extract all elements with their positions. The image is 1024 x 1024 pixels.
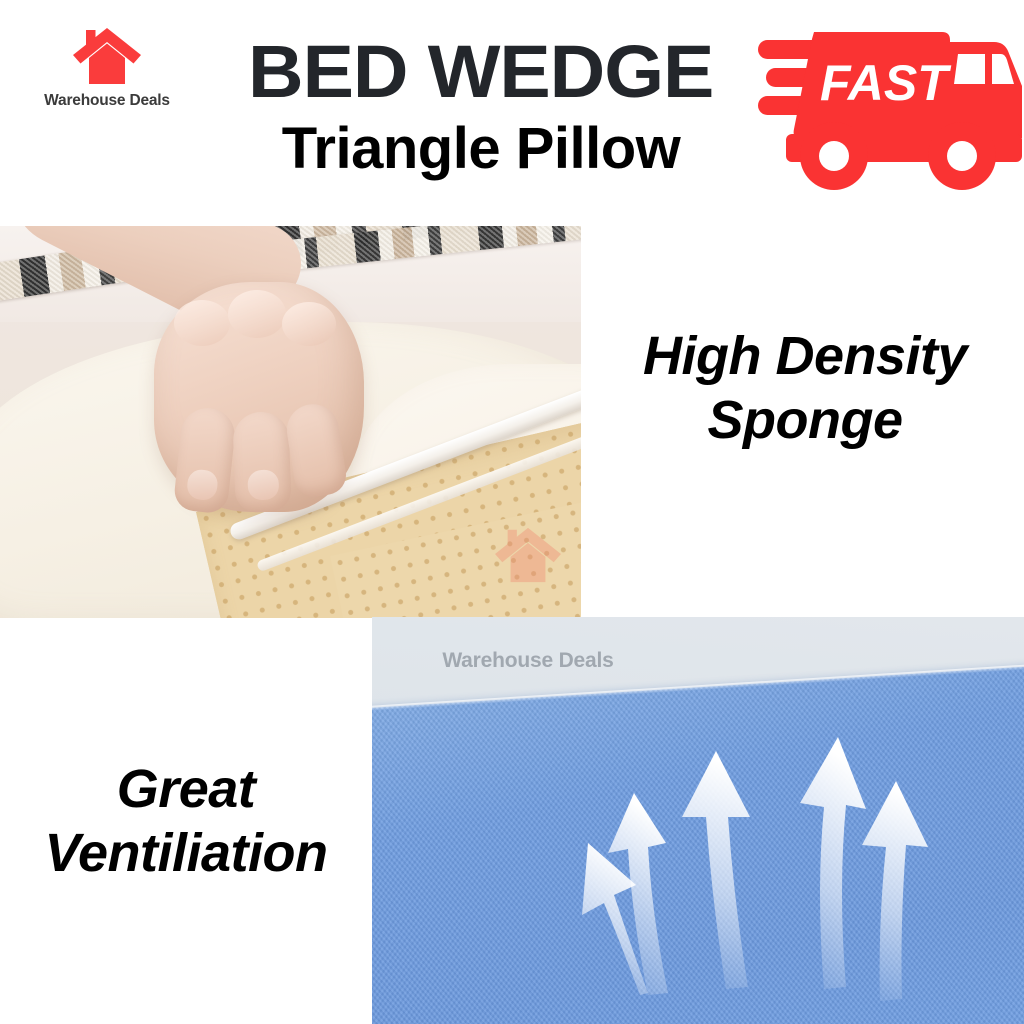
page-subtitle: Triangle Pillow <box>282 119 681 180</box>
knuckle <box>282 302 336 346</box>
finger <box>173 405 238 514</box>
product-promo-image: Warehouse Deals BED WEDGE Triangle Pillo… <box>0 0 1024 1024</box>
delivery-truck-icon: FAST <box>756 8 1024 198</box>
finger <box>232 411 291 513</box>
fingernail <box>186 468 219 501</box>
high-density-sponge-photo <box>0 226 581 618</box>
page-title: BED WEDGE <box>248 34 713 109</box>
airflow-arrow <box>842 753 942 1003</box>
caption-great-ventilation: Great Ventiliation <box>0 758 372 885</box>
fist <box>154 282 364 512</box>
finger <box>283 400 349 499</box>
house-icon <box>70 22 144 88</box>
great-ventilation-photo: Warehouse Deals <box>372 617 1024 1024</box>
brand-name: Warehouse Deals <box>44 92 170 110</box>
caption-high-density-sponge: High Density Sponge <box>586 325 1024 452</box>
header-banner: Warehouse Deals BED WEDGE Triangle Pillo… <box>0 0 1024 226</box>
hand-pressing-foam <box>148 238 362 538</box>
fast-label: FAST <box>820 55 952 111</box>
airflow-arrow <box>598 757 688 997</box>
knuckle <box>174 300 230 346</box>
brand-logo: Warehouse Deals <box>22 22 192 132</box>
knuckle <box>228 290 286 338</box>
fingernail <box>247 469 279 500</box>
title-block: BED WEDGE Triangle Pillow <box>196 26 766 206</box>
